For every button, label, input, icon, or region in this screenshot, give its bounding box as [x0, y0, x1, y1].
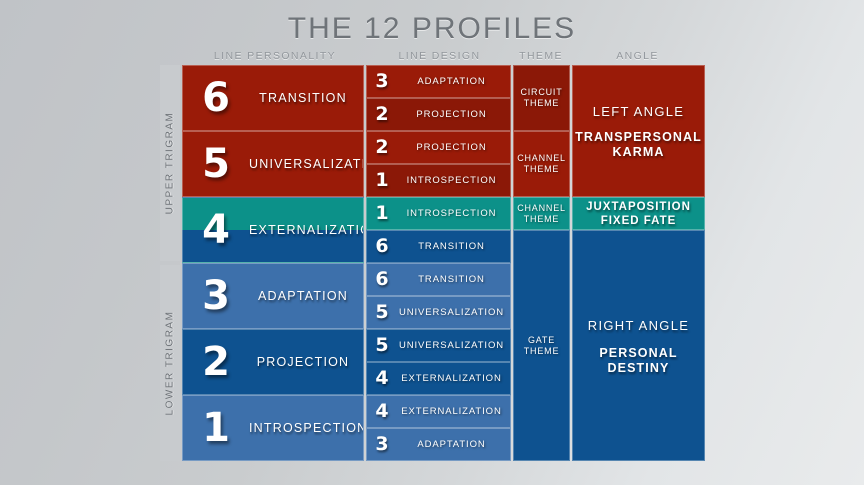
- theme-line2: Theme: [524, 98, 560, 108]
- theme-label: Circuit Theme: [518, 87, 564, 109]
- design-number: 3: [367, 72, 397, 91]
- design-name: Externalization: [397, 373, 510, 385]
- design-row[interactable]: 2 Projection: [366, 98, 511, 131]
- design-name: Transition: [397, 241, 510, 253]
- design-number: 2: [367, 138, 397, 157]
- angle-cell-left[interactable]: Left Angle Transpersonal Karma: [572, 65, 705, 197]
- table-row[interactable]: 6 Transition: [182, 65, 364, 131]
- design-row[interactable]: 1 Introspection: [366, 197, 511, 230]
- angle-label-left: Left Angle Transpersonal Karma: [572, 102, 705, 160]
- angle-line1: Right Angle: [588, 316, 689, 336]
- theme-label: Channel Theme: [515, 153, 568, 175]
- design-name: Projection: [397, 109, 510, 121]
- personality-number-5: 5: [183, 144, 249, 184]
- design-number: 6: [367, 237, 397, 256]
- angle-line3: Karma: [575, 145, 702, 160]
- design-name: Adaptation: [397, 76, 510, 88]
- design-row[interactable]: 1 Introspection: [366, 164, 511, 197]
- column-header-theme: Theme: [512, 50, 570, 62]
- theme-line2: Theme: [524, 164, 560, 174]
- column-header-line-personality: Line Personality: [180, 50, 370, 62]
- angle-line1: Left Angle: [575, 102, 702, 122]
- design-name: Externalization: [397, 406, 510, 418]
- design-row[interactable]: 3 Adaptation: [366, 65, 511, 98]
- angle-line2: Fixed Fate: [586, 214, 691, 228]
- design-name: Universalization: [397, 307, 510, 319]
- theme-line1: Circuit: [520, 87, 562, 97]
- theme-line1: Gate: [528, 335, 555, 345]
- profiles-table: Upper Trigram Lower Trigram 6 Transition…: [160, 65, 705, 461]
- personality-name-3: Adaptation: [249, 289, 363, 303]
- angle-line1: Juxtaposition: [586, 200, 691, 214]
- design-number: 5: [367, 336, 397, 355]
- design-number: 5: [367, 303, 397, 322]
- theme-line2: Theme: [524, 214, 560, 224]
- column-header-line-design: Line Design: [367, 50, 512, 62]
- table-row[interactable]: 5 Universalization: [182, 131, 364, 197]
- design-name: Adaptation: [397, 439, 510, 451]
- design-name: Projection: [397, 142, 510, 154]
- design-row[interactable]: 6 Transition: [366, 230, 511, 263]
- table-row[interactable]: 2 Projection: [182, 329, 364, 395]
- design-row[interactable]: 5 Universalization: [366, 329, 511, 362]
- angle-label-juxtaposition: Juxtaposition Fixed Fate: [582, 200, 695, 228]
- personality-number-1: 1: [183, 408, 249, 448]
- design-name: Introspection: [397, 175, 510, 187]
- theme-line1: Channel: [517, 203, 566, 213]
- trigram-rail-upper: Upper Trigram: [160, 65, 180, 261]
- angle-line3: Destiny: [588, 361, 689, 376]
- theme-cell-circuit[interactable]: Circuit Theme: [513, 65, 570, 131]
- personality-number-4: 4: [183, 210, 249, 250]
- personality-name-1: Introspection: [249, 421, 364, 435]
- personality-name-5: Universalization: [249, 157, 364, 171]
- theme-cell-gate[interactable]: Gate Theme: [513, 230, 570, 461]
- personality-name-2: Projection: [249, 355, 363, 369]
- column-headers: Line Personality Line Design Theme Angle: [0, 50, 864, 66]
- angle-label-right: Right Angle Personal Destiny: [584, 316, 693, 376]
- design-number: 4: [367, 402, 397, 421]
- design-number: 4: [367, 369, 397, 388]
- design-name: Introspection: [397, 208, 510, 220]
- trigram-label-lower: Lower Trigram: [165, 311, 176, 416]
- table-row[interactable]: 1 Introspection: [182, 395, 364, 461]
- angle-line2: Personal: [588, 346, 689, 361]
- angle-cell-juxtaposition[interactable]: Juxtaposition Fixed Fate: [572, 197, 705, 230]
- theme-line2: Theme: [524, 346, 560, 356]
- design-number: 1: [367, 171, 397, 190]
- theme-label: Channel Theme: [515, 203, 568, 225]
- personality-number-3: 3: [183, 276, 249, 316]
- theme-cell-channel-teal[interactable]: Channel Theme: [513, 197, 570, 230]
- page-title: The 12 Profiles: [0, 12, 864, 46]
- design-row[interactable]: 4 Externalization: [366, 362, 511, 395]
- design-number: 1: [367, 204, 397, 223]
- theme-line1: Channel: [517, 153, 566, 163]
- design-row[interactable]: 5 Universalization: [366, 296, 511, 329]
- design-name: Universalization: [397, 340, 510, 352]
- design-row[interactable]: 4 Externalization: [366, 395, 511, 428]
- table-row[interactable]: 3 Adaptation: [182, 263, 364, 329]
- trigram-rail-lower: Lower Trigram: [160, 265, 180, 461]
- personality-name-6: Transition: [249, 91, 363, 105]
- design-row[interactable]: 2 Projection: [366, 131, 511, 164]
- angle-line2: Transpersonal: [575, 130, 702, 145]
- design-name: Transition: [397, 274, 510, 286]
- design-row[interactable]: 3 Adaptation: [366, 428, 511, 461]
- theme-label: Gate Theme: [522, 335, 562, 357]
- personality-name-4: Externalization: [249, 223, 364, 237]
- design-number: 6: [367, 270, 397, 289]
- angle-cell-right[interactable]: Right Angle Personal Destiny: [572, 230, 705, 461]
- personality-number-2: 2: [183, 342, 249, 382]
- trigram-label-upper: Upper Trigram: [165, 112, 176, 215]
- design-number: 2: [367, 105, 397, 124]
- design-number: 3: [367, 435, 397, 454]
- column-header-angle: Angle: [570, 50, 705, 62]
- table-row[interactable]: 4 Externalization: [182, 197, 364, 263]
- table-body: 6 Transition 5 Universalization 4 Extern…: [182, 65, 705, 461]
- design-row[interactable]: 6 Transition: [366, 263, 511, 296]
- personality-number-6: 6: [183, 78, 249, 118]
- title-area: The 12 Profiles: [0, 0, 864, 46]
- theme-cell-channel-upper[interactable]: Channel Theme: [513, 131, 570, 197]
